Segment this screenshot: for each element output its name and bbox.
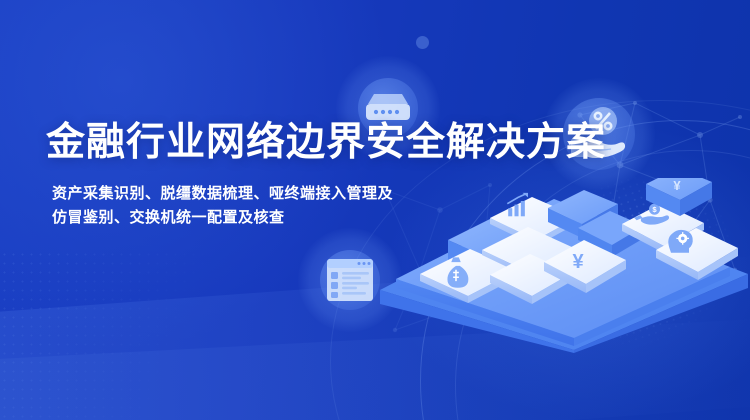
decorative-dot [416,36,429,49]
page-subtitle: 资产采集识别、脱缰数据梳理、哑终端接入管理及 仿冒鉴别、交换机统一配置及核查 [52,182,516,230]
headline-text-block: 金融行业网络边界安全解决方案 资产采集识别、脱缰数据梳理、哑终端接入管理及 仿冒… [46,118,516,230]
document-list-icon [325,257,375,303]
subtitle-line-2: 仿冒鉴别、交换机统一配置及核查 [52,206,516,230]
subtitle-line-1: 资产采集识别、脱缰数据梳理、哑终端接入管理及 [52,182,516,206]
background-dot-mesh-left [0,250,260,420]
yen-symbol-cube: ¥ [673,178,681,193]
page-title: 金融行业网络边界安全解决方案 [46,118,516,168]
banner: ¥ $ [0,0,750,420]
yen-symbol-center: ¥ [572,251,584,273]
